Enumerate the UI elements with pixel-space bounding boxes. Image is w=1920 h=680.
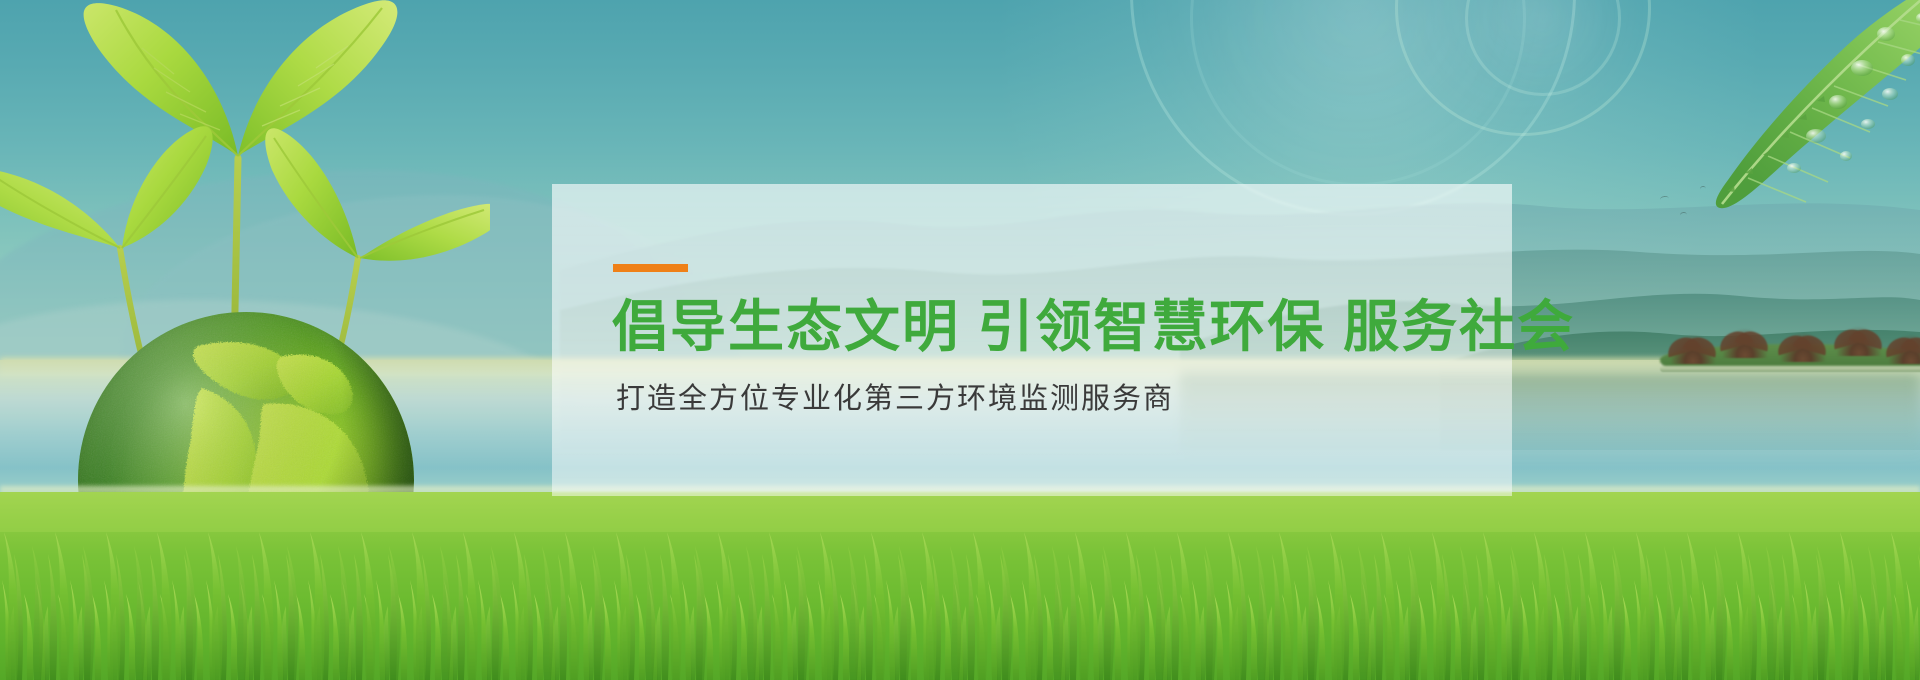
palm-icon	[1670, 334, 1716, 364]
grass-blades	[0, 492, 1920, 680]
banner-headline: 倡导生态文明 引领智慧环保 服务社会	[612, 296, 1575, 358]
palm-icon	[1888, 334, 1920, 364]
banner-subtitle: 打造全方位专业化第三方环境监测服务商	[616, 382, 1174, 417]
shoreline-island	[1660, 320, 1920, 382]
eco-hero-banner: 倡导生态文明 引领智慧环保 服务社会 打造全方位专业化第三方环境监测服务商	[0, 0, 1920, 680]
dewy-leaf	[1690, 0, 1920, 230]
orange-accent-bar	[613, 264, 688, 272]
palm-icon	[1722, 328, 1768, 358]
palm-icon	[1836, 326, 1882, 356]
palm-icon	[1780, 332, 1826, 362]
